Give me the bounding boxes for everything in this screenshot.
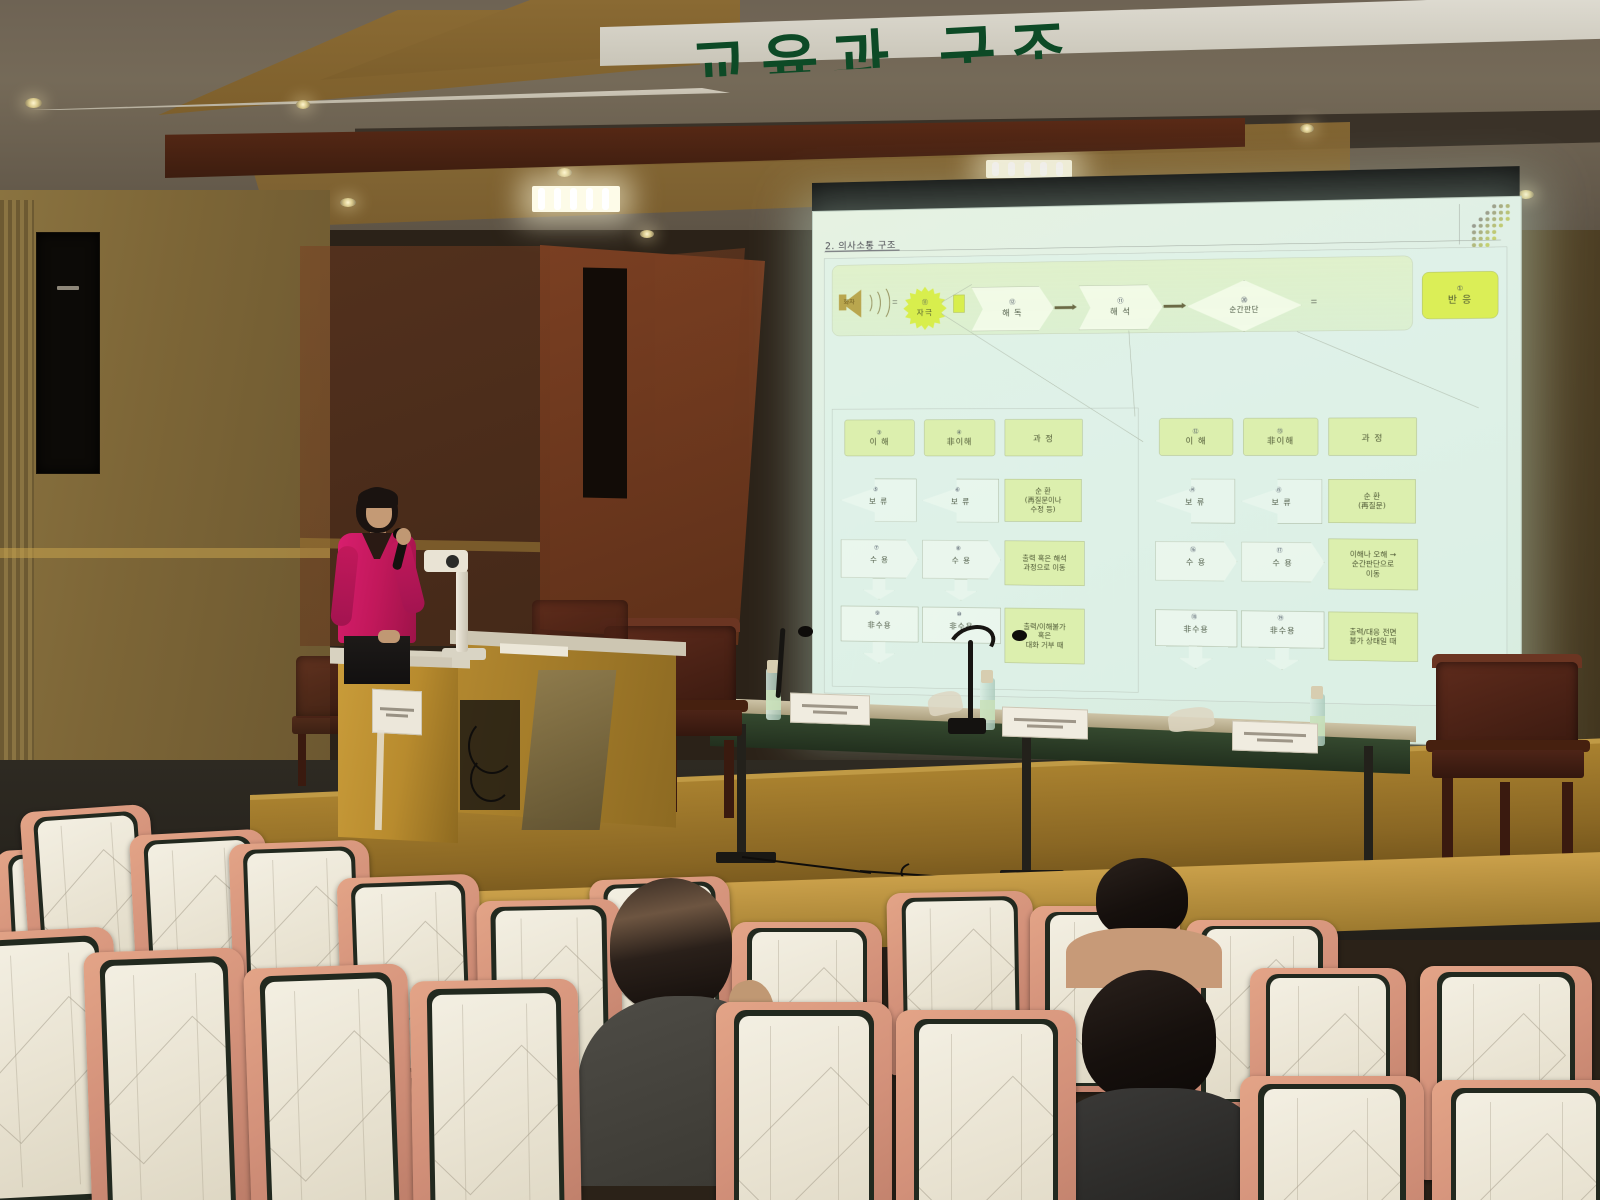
slide-dot: [1499, 217, 1503, 221]
microphone-head-icon: [798, 626, 813, 637]
presenter-hair: [358, 488, 398, 508]
projection-screen: 2. 의사소통 구조 화자 = ⑪: [812, 166, 1520, 745]
presenter-skirt: [344, 636, 410, 684]
slide-dot-decoration: [1472, 204, 1511, 249]
table-cell-hold: ⑭ 보 류: [1155, 479, 1235, 524]
auditorium-seat: [83, 947, 253, 1200]
stimulus-label: 자극: [917, 306, 934, 318]
down-arrow-icon: [945, 579, 977, 601]
slide-dot: [1485, 230, 1489, 234]
slide-dot: [1485, 211, 1489, 215]
auditorium-seat: [896, 1010, 1076, 1200]
cell-label: 이 해: [1186, 434, 1207, 446]
slide-dot: [1479, 211, 1483, 215]
audience-person-head: [1096, 858, 1188, 938]
table-cell-hold: ⑤ 보 류: [841, 479, 917, 522]
slide-dot: [1472, 218, 1476, 222]
table-note-cell: 순 환 (再질문이나 수정 등): [1005, 479, 1082, 522]
table-note-cell: 순 환 (再질문): [1328, 479, 1415, 523]
auditorium-seat: [410, 979, 583, 1200]
cell-label: 보 류: [1185, 495, 1205, 507]
cell-number: ⑥: [955, 487, 961, 493]
cell-label: 과 정: [1033, 432, 1054, 444]
slide-dot: [1492, 204, 1496, 208]
name-placard: [1002, 706, 1088, 739]
table-cell-hold: ⑥ 보 류: [922, 479, 999, 523]
table-cell-accept: ⑧ 수 용: [922, 540, 1001, 579]
cell-number: ⑲: [1278, 615, 1285, 621]
table-header-cell: ⑬ 非이해: [1243, 418, 1318, 456]
slide-divider: [1459, 204, 1460, 244]
cell-label: 보 류: [869, 495, 888, 506]
cell-label: 非이해: [1267, 434, 1294, 446]
cell-label: 수 용: [870, 553, 889, 564]
cell-number: ⑱: [1191, 614, 1198, 620]
presentation-slide: 2. 의사소통 구조 화자 = ⑪: [813, 197, 1520, 746]
guide-line: [1297, 331, 1479, 408]
downlight-icon: [640, 230, 654, 238]
bottle-label: [980, 700, 995, 720]
auditorium-seat: [243, 963, 417, 1200]
response-label: 반 응: [1448, 292, 1472, 306]
microphone-base: [948, 718, 986, 734]
auditorium-seat: [1240, 1076, 1424, 1200]
flow-response-box: ① 반 응: [1422, 271, 1498, 319]
flow-row: 화자 = ⑪ 자극 ⑫ 해 독: [832, 256, 1413, 337]
down-arrow-icon: [1179, 645, 1213, 669]
downlight-icon: [1300, 124, 1314, 133]
flow-equals-1: =: [892, 297, 897, 308]
slide-dot: [1485, 217, 1489, 221]
cell-number: ⑰: [1277, 547, 1284, 553]
cell-number: ⑯: [1190, 547, 1197, 553]
down-arrow-icon: [1265, 647, 1299, 671]
diagram-frame: 화자 = ⑪ 자극 ⑫ 해 독: [824, 247, 1507, 708]
table-cell-hold: ⑮ 보 류: [1241, 479, 1322, 524]
presenter-hand: [396, 528, 411, 545]
cell-label: 보 류: [951, 495, 970, 506]
screen-surface: 2. 의사소통 구조 화자 = ⑪: [812, 196, 1522, 747]
wall-ribbed-panel: [0, 200, 34, 820]
cell-label: 수 용: [952, 554, 971, 566]
flow-step-decode: ⑫ 해 독: [971, 286, 1053, 332]
cell-label: 非수용: [1270, 623, 1296, 635]
slide-dot: [1472, 230, 1476, 234]
wall-chair-rail: [0, 548, 330, 558]
cell-label: 非수용: [867, 618, 891, 630]
flow-connector-box: [953, 295, 964, 313]
bottle-cap: [1311, 686, 1323, 699]
slide-dot: [1506, 223, 1510, 227]
auditorium-seat: [1432, 1080, 1600, 1200]
cell-label: 과 정: [1362, 431, 1384, 443]
slide-dot: [1492, 230, 1496, 234]
cell-number: ⑧: [956, 545, 962, 551]
slide-dot: [1479, 224, 1483, 228]
slide-dot: [1479, 230, 1483, 234]
slide-dot: [1499, 204, 1503, 208]
slide-dot: [1472, 205, 1476, 209]
cell-label: 수 용: [1272, 556, 1292, 568]
down-arrow-icon: [863, 641, 895, 664]
slide-dot: [1499, 211, 1503, 215]
stimulus-starburst: ⑪ 자극: [903, 286, 946, 330]
table-header-cell: 과 정: [1328, 417, 1416, 455]
cell-label: 非이해: [947, 435, 973, 447]
downlight-icon: [25, 98, 42, 108]
table-cell-nonaccept: ⑱ 非수용: [1155, 609, 1237, 647]
audience-person-head: [610, 878, 732, 1012]
cell-label: 이 해: [869, 435, 889, 447]
table-cell-accept: ⑰ 수 용: [1241, 542, 1324, 583]
slide-dot: [1479, 217, 1483, 221]
audience-person-shoulders: [1052, 1088, 1258, 1200]
cell-number: ⑭: [1189, 487, 1196, 493]
slide-dot: [1506, 217, 1510, 221]
slide-dot: [1472, 211, 1476, 215]
name-placard: [1232, 720, 1318, 753]
table-note-cell: 출력/대응 전면 불가 상태일 때: [1328, 612, 1418, 662]
slide-dot: [1485, 204, 1489, 208]
audience-person-head: [1082, 970, 1216, 1102]
slide-dot: [1492, 224, 1496, 228]
guide-line: [1129, 330, 1136, 416]
flow-equals-2: =: [1311, 296, 1317, 309]
cell-label: 보 류: [1271, 495, 1291, 507]
flow-arrow-icon: [1055, 306, 1073, 309]
podium-sign: [372, 689, 422, 736]
table-header-cell: ③ 이 해: [845, 420, 915, 457]
table-header-cell: ⑫ 이 해: [1159, 418, 1233, 456]
table-note-cell: 이해나 오해 → 순간판단으로 이동: [1328, 539, 1418, 591]
wall-speaker-icon: [36, 232, 100, 474]
audience-seating: [0, 780, 1600, 1200]
wall-slot: [583, 267, 627, 498]
step-label: 해 독: [1002, 306, 1022, 318]
slide-dot: [1485, 224, 1489, 228]
table-cell-accept: ⑦ 수 용: [841, 539, 919, 578]
presenter-hand: [378, 630, 400, 643]
flow-arrow-icon: [1164, 305, 1183, 308]
table-header-cell: ④ 非이해: [924, 419, 995, 456]
document-camera-lens-icon: [446, 555, 459, 568]
cell-number: ⑦: [874, 545, 880, 551]
cell-number: ⑮: [1276, 487, 1283, 493]
step-label: 해 석: [1110, 304, 1131, 316]
table-note-cell: 출력 혹은 해석 과정으로 이동: [1005, 541, 1085, 586]
cell-label: 非수용: [1183, 622, 1208, 634]
document-camera-arm: [456, 570, 468, 652]
cell-label: 수 용: [1186, 555, 1206, 567]
slide-dot: [1506, 204, 1510, 208]
slide-dot: [1506, 236, 1510, 240]
table-header-cell: 과 정: [1005, 419, 1083, 456]
auditorium-seat: [716, 1002, 892, 1200]
lecture-hall-photo: 교육과 구조 2. 의사소통 구조: [0, 0, 1600, 1200]
cell-number: ⑤: [873, 487, 879, 493]
table-cell-nonaccept: ⑲ 非수용: [1241, 610, 1324, 648]
slide-dot: [1492, 211, 1496, 215]
slide-dot: [1506, 210, 1510, 214]
microphone-stand: [776, 628, 786, 698]
cell-number: ⑨: [875, 610, 881, 616]
table-cell-nonaccept: ⑨ 非수용: [841, 606, 919, 643]
slide-dot: [1506, 230, 1510, 234]
slide-dot: [1479, 205, 1483, 209]
bottle-cap: [981, 670, 993, 683]
name-placard: [790, 693, 870, 726]
slide-dot: [1499, 230, 1503, 234]
slide-dot: [1492, 217, 1496, 221]
step-label: 순간판단: [1229, 304, 1258, 315]
table-cell-accept: ⑯ 수 용: [1155, 541, 1237, 581]
down-arrow-icon: [863, 578, 895, 600]
cell-number: ⑩: [957, 611, 963, 617]
slide-dot: [1499, 223, 1503, 227]
flow-step-snap-judgment: ⑳ 순간판단: [1187, 279, 1301, 332]
slide-dot: [1472, 224, 1476, 228]
fluorescent-light-panel: [986, 160, 1072, 178]
flow-step-interpret: ⑪ 해 석: [1079, 284, 1163, 330]
downlight-icon: [296, 100, 310, 109]
microphone-head-icon: [1012, 630, 1027, 641]
